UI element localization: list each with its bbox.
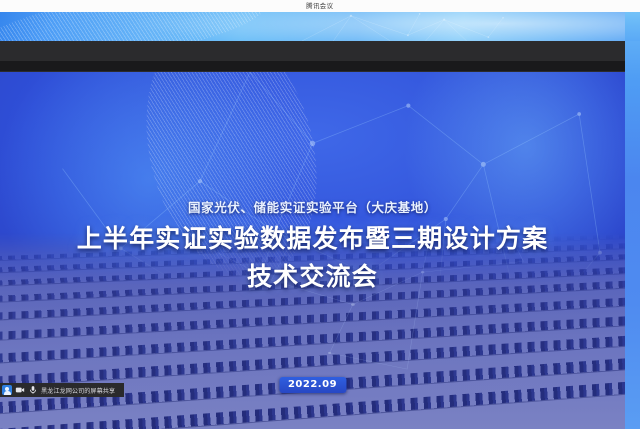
page-right-gutter-top bbox=[625, 12, 640, 41]
microphone-icon[interactable] bbox=[28, 385, 38, 395]
participant-avatar-icon bbox=[2, 385, 12, 395]
slide-title-line-1: 上半年实证实验数据发布暨三期设计方案 bbox=[0, 226, 625, 252]
screen-share-status-bar[interactable]: 黑龙江龙网公司的屏幕共享 bbox=[0, 383, 124, 397]
stage-dark-band bbox=[0, 61, 625, 71]
photo-network-overlay bbox=[163, 233, 551, 374]
site-banner bbox=[0, 12, 640, 41]
app-root: 腾讯会议 bbox=[0, 0, 640, 429]
window-title-bar: 腾讯会议 bbox=[0, 0, 640, 12]
banner-wave-lines bbox=[0, 12, 272, 41]
banner-network-graphic bbox=[243, 12, 537, 41]
shared-slide[interactable]: 国家光伏、储能实证实验平台（大庆基地） 上半年实证实验数据发布暨三期设计方案 技… bbox=[0, 72, 625, 429]
screen-share-label: 黑龙江龙网公司的屏幕共享 bbox=[41, 385, 115, 395]
video-camera-icon[interactable] bbox=[15, 385, 25, 395]
page-right-gutter bbox=[625, 12, 640, 429]
slide-subtitle: 国家光伏、储能实证实验平台（大庆基地） bbox=[0, 197, 625, 216]
slide-title-line-2: 技术交流会 bbox=[0, 264, 625, 290]
slide-date-badge: 2022.09 bbox=[279, 377, 346, 393]
window-title: 腾讯会议 bbox=[306, 1, 333, 10]
